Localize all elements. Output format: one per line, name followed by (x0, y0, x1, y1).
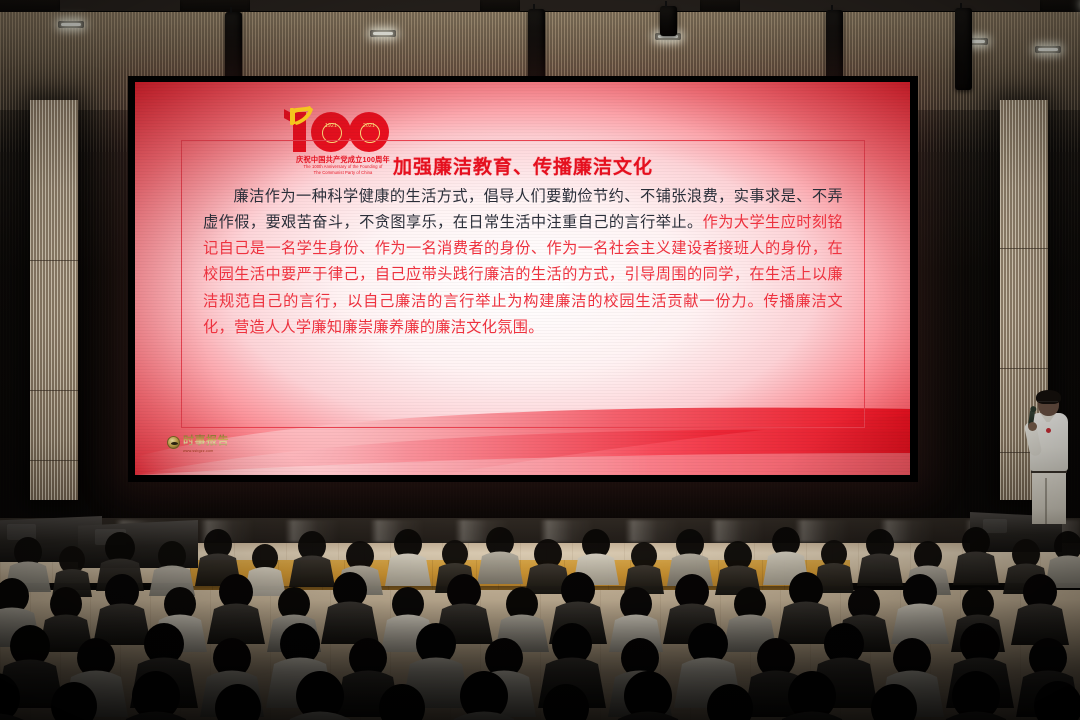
wall-wood-column-left (30, 100, 78, 500)
watermark-title: 时事报告 (183, 432, 229, 448)
presenter-badge (1046, 428, 1051, 433)
watermark-emblem-icon (167, 436, 180, 449)
column-seam (30, 260, 78, 261)
auditorium-scene: 1921 2021 庆祝中国共产党成立100周年 The 100th Anniv… (0, 0, 1080, 720)
ceiling-slab (250, 0, 480, 11)
ceiling-truss-spotlight (58, 21, 84, 28)
seated-student-audience (0, 500, 1080, 720)
presenter-hand (1028, 422, 1037, 431)
hanging-stage-light (955, 8, 972, 90)
glasses-icon (1038, 401, 1058, 405)
ceiling-slab (60, 0, 180, 11)
slide-body-red-segment: 作为大学生应时刻铭记自己是一名学生身份、作为一名消费者的身份、作为一名社会主义建… (203, 214, 843, 336)
hammer-and-sickle-icon (288, 104, 318, 128)
watermark-url: www.ssbgzz.com (183, 449, 229, 453)
ceiling-slab (740, 0, 1040, 11)
slide-watermark: 时事报告 www.ssbgzz.com (167, 432, 229, 453)
column-seam (1000, 248, 1048, 249)
slide-body-text: 廉洁作为一种科学健康的生活方式，倡导人们要勤俭节约、不铺张浪费，实事求是、不弄虚… (203, 184, 843, 341)
watermark-text-block: 时事报告 www.ssbgzz.com (183, 432, 229, 453)
ceiling-truss-spotlight (370, 30, 396, 37)
slide-content: 1921 2021 庆祝中国共产党成立100周年 The 100th Anniv… (181, 108, 865, 428)
slide-title: 加强廉洁教育、传播廉洁文化 (181, 152, 865, 179)
audience-silhouettes (0, 500, 1080, 720)
wood-slat-texture (30, 100, 78, 500)
column-seam (1000, 368, 1048, 369)
led-screen[interactable]: 1921 2021 庆祝中国共产党成立100周年 The 100th Anniv… (135, 82, 910, 475)
column-seam (30, 390, 78, 391)
hanging-stage-light (660, 6, 677, 36)
ceiling-truss-spotlight (1035, 46, 1061, 53)
column-seam (30, 460, 78, 461)
logo-year-right: 2021 (349, 123, 389, 129)
